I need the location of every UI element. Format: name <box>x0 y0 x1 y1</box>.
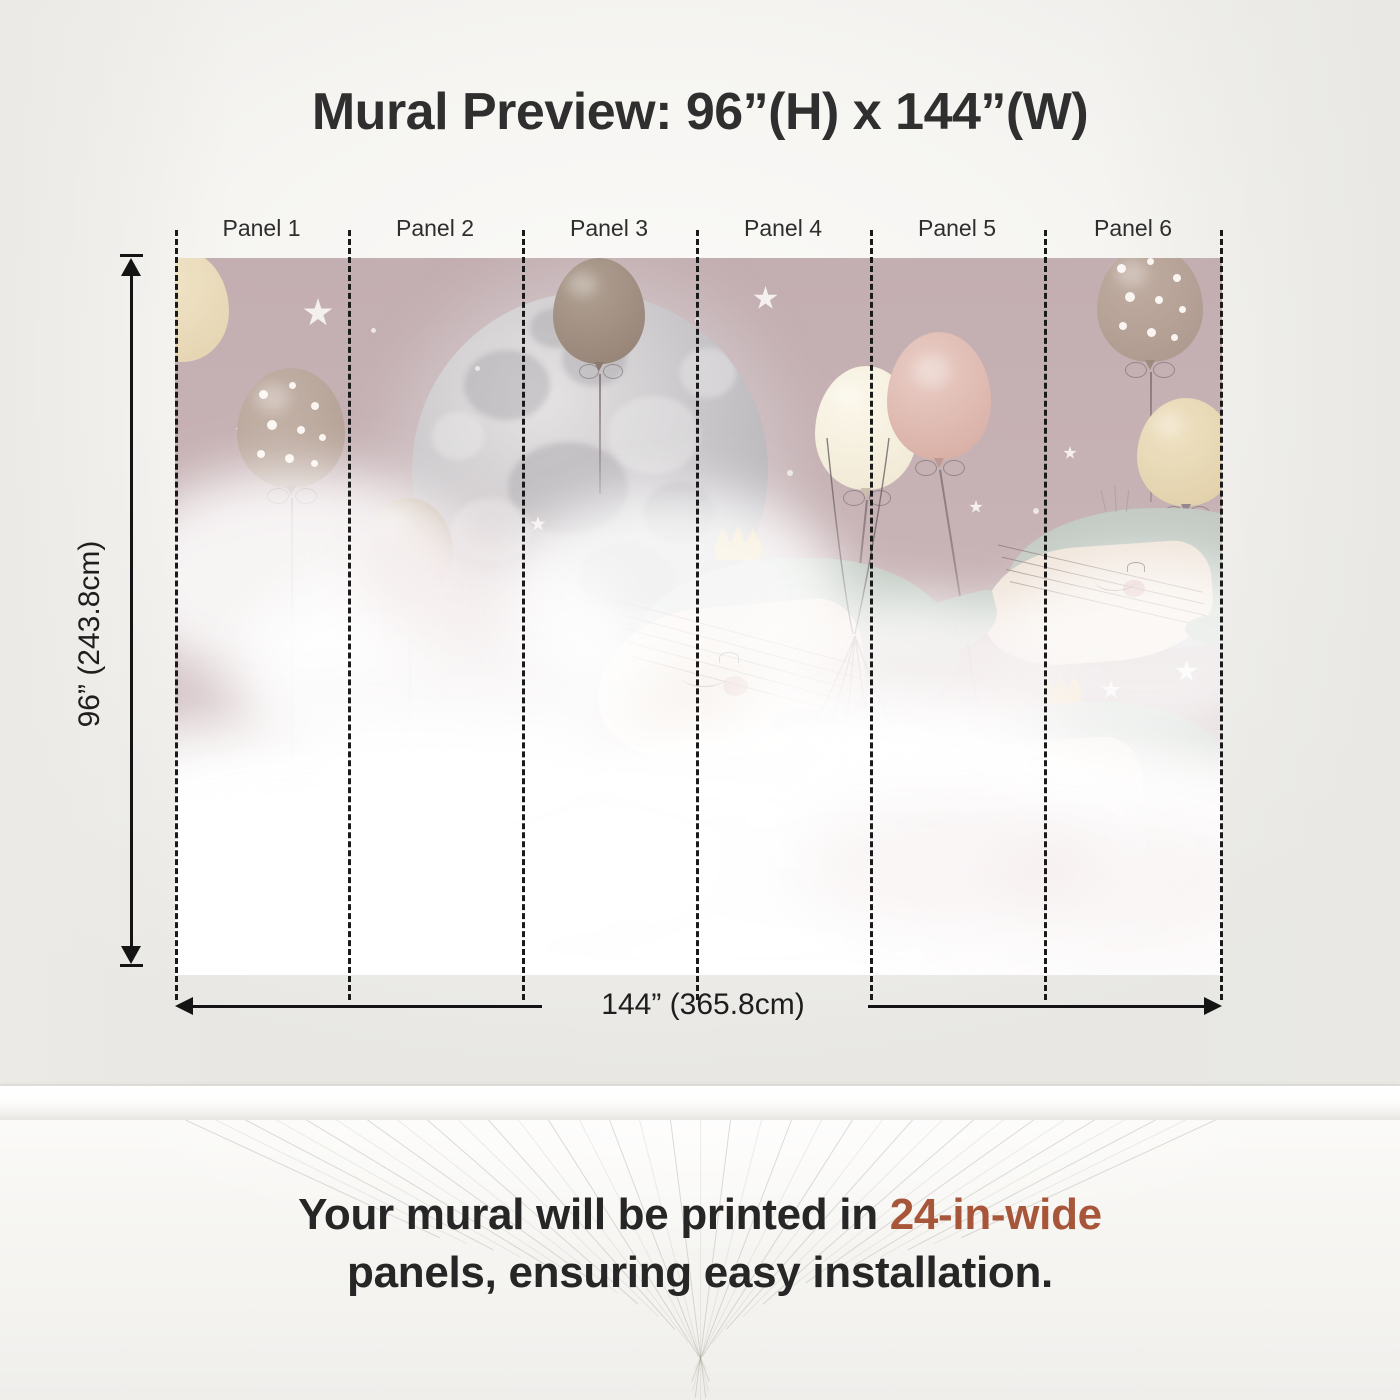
mural-preview-page: Mural Preview: 96”(H) x 144”(W) Panel 1 … <box>0 0 1400 1400</box>
panel-divider-4 <box>870 230 873 1000</box>
footer-caption: Your mural will be printed in 24-in-wide… <box>0 1186 1400 1302</box>
panel-divider-5 <box>1044 230 1047 1000</box>
panel-divider-2 <box>522 230 525 1000</box>
panel-label-4: Panel 4 <box>696 215 870 242</box>
star-dot <box>371 328 376 333</box>
height-tick-top <box>120 254 143 257</box>
width-arrow-line-left <box>182 1005 542 1008</box>
panel-divider-1 <box>348 230 351 1000</box>
height-dimension-label: 96” (243.8cm) <box>73 464 107 804</box>
height-arrow-head-bottom <box>121 946 141 964</box>
baseboard <box>0 1086 1400 1122</box>
panel-label-3: Panel 3 <box>522 215 696 242</box>
panel-label-1: Panel 1 <box>175 215 348 242</box>
star-dot <box>475 366 480 371</box>
panel-label-2: Panel 2 <box>348 215 522 242</box>
caption-highlight: 24-in-wide <box>890 1190 1102 1239</box>
height-arrow-line <box>130 272 133 960</box>
height-tick-bottom <box>120 964 143 967</box>
panel-label-5: Panel 5 <box>870 215 1044 242</box>
width-arrow-head-right <box>1204 997 1222 1015</box>
panel-divider-left-edge <box>175 230 178 1000</box>
panel-label-6: Panel 6 <box>1044 215 1222 242</box>
caption-line1-prefix: Your mural will be printed in <box>298 1190 890 1239</box>
caption-line2: panels, ensuring easy installation. <box>0 1244 1400 1302</box>
width-dimension-label: 144” (365.8cm) <box>543 988 863 1022</box>
width-arrow-line-right <box>868 1005 1216 1008</box>
panel-divider-3 <box>696 230 699 1000</box>
page-title: Mural Preview: 96”(H) x 144”(W) <box>0 82 1400 142</box>
star-dot <box>1033 508 1039 514</box>
panel-divider-right-edge <box>1220 230 1223 1000</box>
